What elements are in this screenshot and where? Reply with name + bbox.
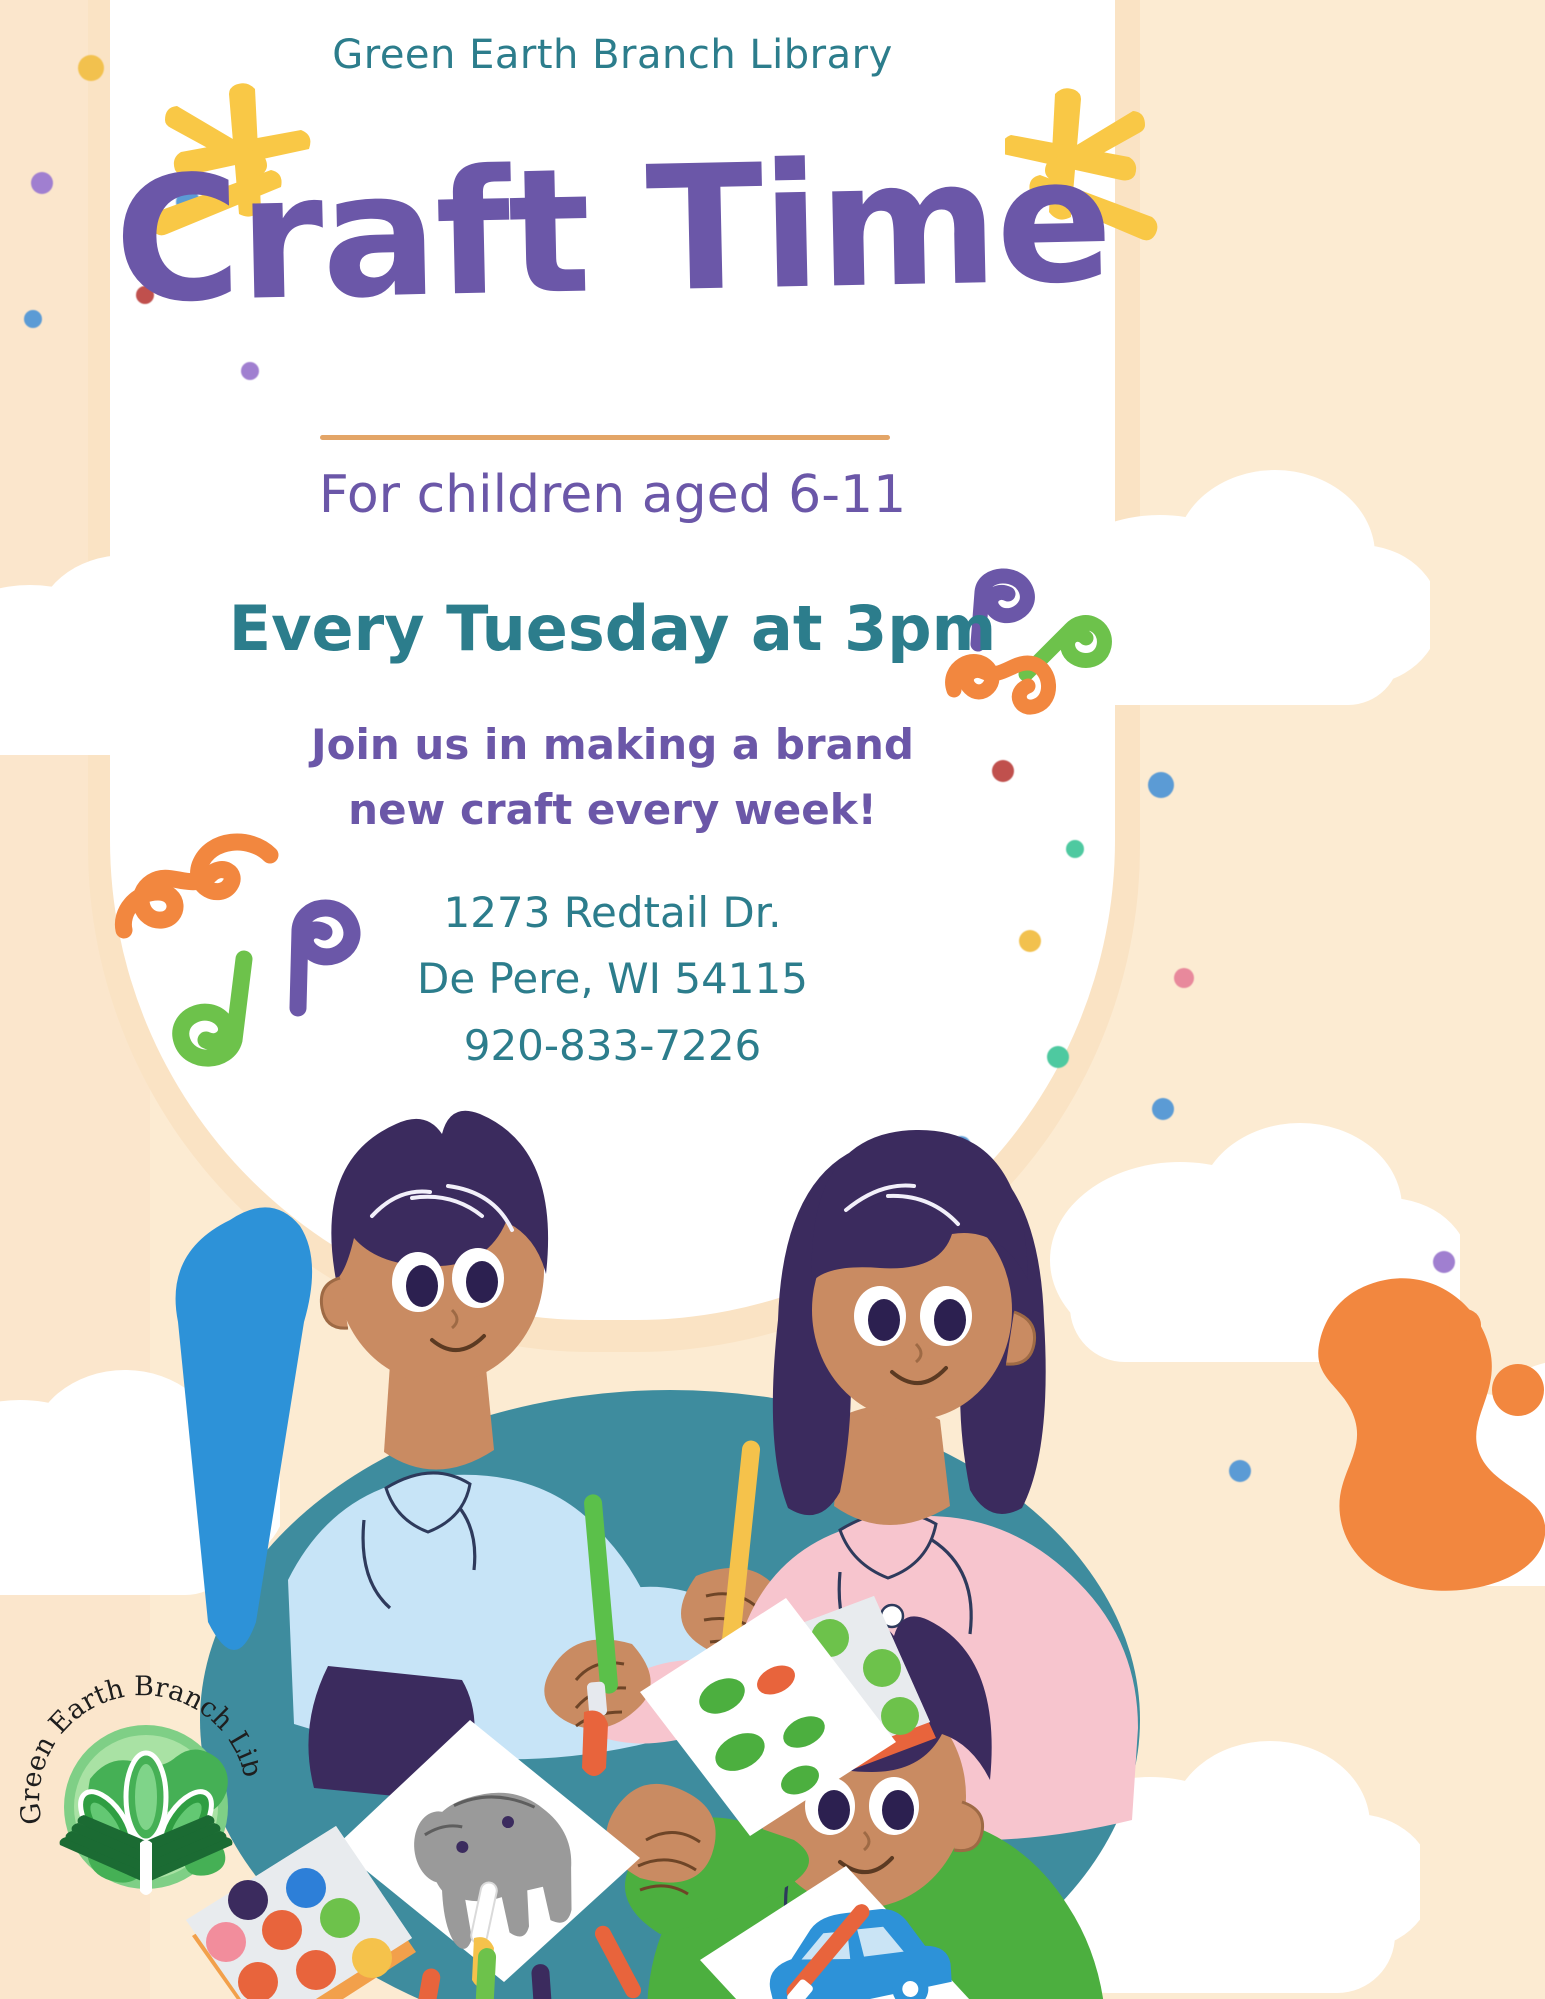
blurb-block: Join us in making a brand new craft ever… [0,712,1225,842]
schedule-line: Every Tuesday at 3pm [0,592,1225,665]
orange-splash [1250,1270,1545,1600]
branch-name: Green Earth Branch Library [0,32,1225,78]
divider-rule [320,435,890,440]
page-title: Craft Time [0,132,1227,330]
confetti-dot [241,362,259,380]
library-logo: Green Earth Branch Library [18,1655,253,1890]
address-street: 1273 Redtail Dr. [0,880,1225,946]
contact-block: 1273 Redtail Dr. De Pere, WI 54115 920-8… [0,880,1225,1079]
confetti-dot [1229,1460,1251,1482]
phone-number: 920-833-7226 [0,1013,1225,1079]
craft-time-flyer: Green Earth Branch Library [0,0,1545,1999]
blurb-line-2: new craft every week! [0,777,1225,842]
children-craft-illustration [140,1020,1220,1999]
blurb-line-1: Join us in making a brand [0,712,1225,777]
address-city-state-zip: De Pere, WI 54115 [0,946,1225,1012]
confetti-dot [1066,840,1084,858]
audience-line: For children aged 6-11 [0,465,1225,525]
